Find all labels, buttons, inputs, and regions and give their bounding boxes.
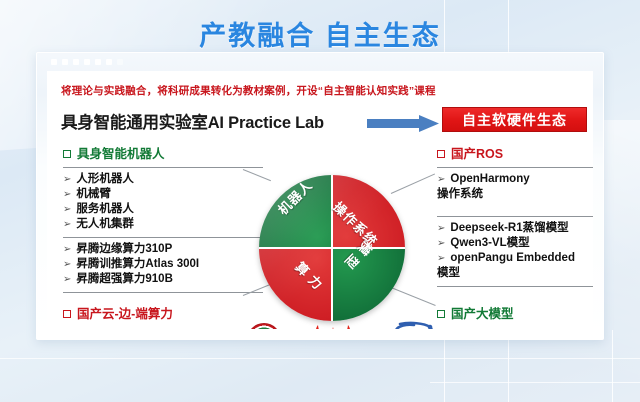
background-vertical-line-3: [612, 330, 613, 402]
left-divider-2: [63, 237, 263, 238]
left-column-footer: 国产云-边-端算力: [63, 303, 173, 322]
list-item: ➢Deepseek-R1蒸馏模型: [437, 221, 593, 236]
left-footer-label: 国产云-边-端算力: [77, 303, 173, 322]
list-item-continuation: 模型: [437, 266, 593, 281]
right-column-heading: 国产ROS: [437, 143, 593, 162]
ceaie-logo: 中教国际教育 CHINA EDUCATION ASSOCIATION FOR I…: [385, 321, 447, 330]
chevron-right-icon: ➢: [437, 236, 445, 251]
chevron-right-icon: ➢: [63, 242, 71, 257]
list-item: ➢服务机器人: [63, 202, 263, 217]
chevron-right-icon: ➢: [63, 187, 71, 202]
list-item: ➢昇腾超强算力910B: [63, 272, 263, 287]
list-item: ➢机械臂: [63, 187, 263, 202]
chevron-right-icon: ➢: [63, 217, 71, 232]
partner-logos: 中教国际教育 CHINA EDUCATION ASSOCIATION FOR I…: [247, 319, 447, 329]
right-arrow-icon: [367, 115, 439, 132]
list-item: ➢Qwen3-VL模型: [437, 236, 593, 251]
left-list-group-one: ➢人形机器人 ➢机械臂 ➢服务机器人 ➢无人机集群: [63, 172, 263, 232]
circle-divider-horizontal: [259, 247, 405, 249]
right-footer-label: 国产大模型: [451, 303, 514, 322]
left-column-heading: 具身智能机器人: [63, 143, 263, 162]
chevron-right-icon: ➢: [437, 251, 445, 266]
red-square-bullet-icon: [63, 310, 71, 318]
left-list-group-two: ➢昇腾边缘算力310P ➢昇腾训推算力Atlas 300I ➢昇腾超强算力910…: [63, 242, 263, 287]
slide-frame: 将理论与实践融合，将科研成果转化为教材案例，开设“自主智能认知实践”课程 具身智…: [36, 52, 604, 340]
chevron-right-icon: ➢: [63, 272, 71, 287]
left-heading-label: 具身智能机器人: [77, 143, 165, 162]
huawei-logo: [312, 323, 354, 329]
right-column: 国产ROS ➢OpenHarmony 操作系统 ➢Deepseek-R1蒸馏模型…: [437, 143, 593, 291]
core-pillars-diagram: 机器人 操作系统 算 力 模 型: [259, 175, 405, 321]
ceaie-mark-icon: [386, 321, 446, 330]
green-square-bullet-icon: [63, 150, 71, 158]
list-item: ➢昇腾训推算力Atlas 300I: [63, 257, 263, 272]
right-column-footer: 国产大模型: [437, 303, 514, 322]
list-item-continuation: 操作系统: [437, 187, 593, 202]
list-item: ➢openPangu Embedded: [437, 251, 593, 266]
chevron-right-icon: ➢: [63, 257, 71, 272]
eco-system-badge: 自主软硬件生态: [442, 107, 587, 132]
chevron-right-icon: ➢: [437, 221, 445, 236]
university-seal-logo: [247, 323, 281, 329]
left-column: 具身智能机器人 ➢人形机器人 ➢机械臂 ➢服务机器人 ➢无人机集群 ➢昇腾边缘算…: [63, 143, 263, 297]
slide-caption: 将理论与实践融合，将科研成果转化为教材案例，开设“自主智能认知实践”课程: [61, 83, 436, 98]
frame-dots-decoration: [51, 59, 123, 65]
chevron-right-icon: ➢: [63, 202, 71, 217]
chevron-right-icon: ➢: [437, 172, 445, 187]
right-divider-2: [437, 216, 593, 217]
left-divider-3: [63, 292, 263, 293]
list-item: ➢人形机器人: [63, 172, 263, 187]
right-divider-3: [437, 286, 593, 287]
slide-card: 将理论与实践融合，将科研成果转化为教材案例，开设“自主智能认知实践”课程 具身智…: [47, 71, 593, 329]
green-square-bullet-icon: [437, 310, 445, 318]
right-list-group-one: ➢OpenHarmony 操作系统: [437, 172, 593, 202]
page-title: 产教融合 自主生态: [0, 14, 640, 53]
lab-title: 具身智能通用实验室AI Practice Lab: [61, 109, 324, 133]
background-horizontal-line-1: [0, 358, 640, 359]
red-square-bullet-icon: [437, 150, 445, 158]
right-heading-label: 国产ROS: [451, 143, 503, 162]
chevron-right-icon: ➢: [63, 172, 71, 187]
list-item: ➢OpenHarmony: [437, 172, 593, 187]
right-divider-1: [437, 167, 593, 168]
background-horizontal-line-2: [430, 382, 640, 383]
list-item: ➢昇腾边缘算力310P: [63, 242, 263, 257]
list-item: ➢无人机集群: [63, 217, 263, 232]
left-divider-1: [63, 167, 263, 168]
right-list-group-two: ➢Deepseek-R1蒸馏模型 ➢Qwen3-VL模型 ➢openPangu …: [437, 221, 593, 281]
